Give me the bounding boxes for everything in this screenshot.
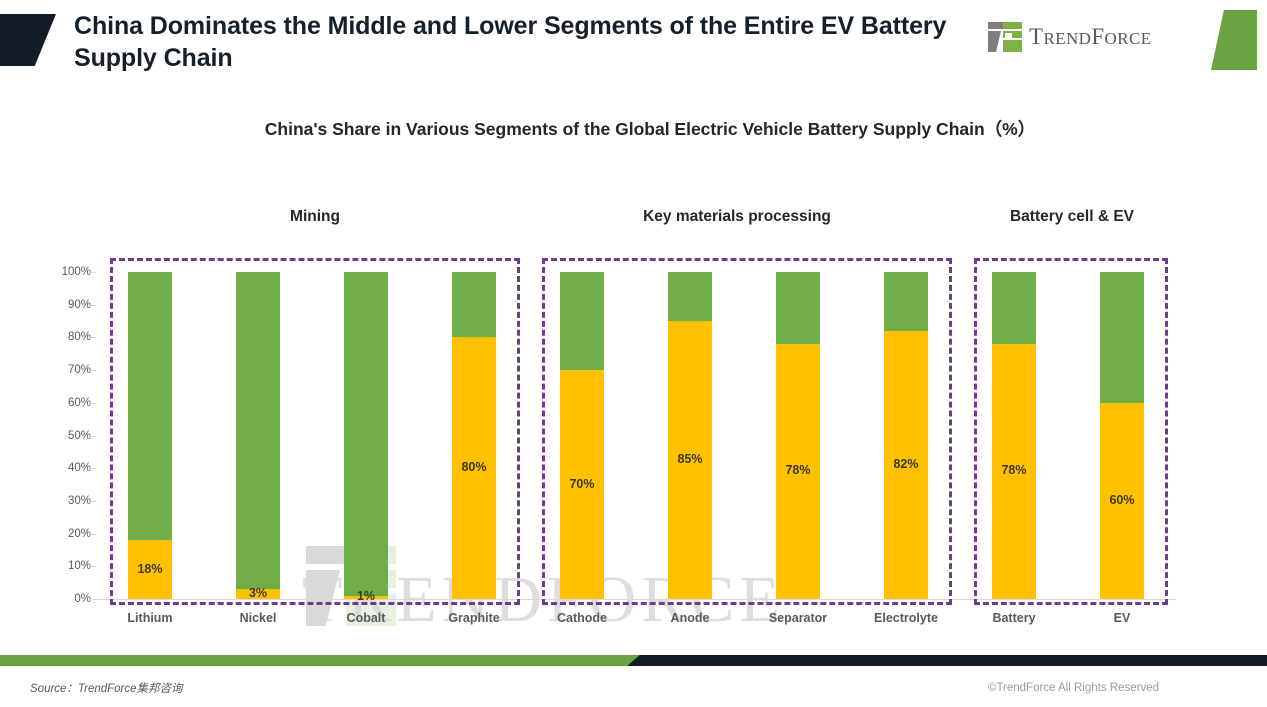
logo-letters-rend: REND [1043,29,1091,48]
y-axis-label-60: 60% [31,397,91,409]
x-axis-label-lithium: Lithium [96,611,204,625]
y-axis-label-100: 100% [31,266,91,278]
y-axis-tick-80 [90,337,96,338]
y-axis-label-40: 40% [31,462,91,474]
x-axis-label-nickel: Nickel [204,611,312,625]
group-header-battery-cell-ev: Battery cell & EV [960,208,1184,226]
x-axis-label-cobalt: Cobalt [312,611,420,625]
y-axis-tick-50 [90,436,96,437]
group-header-key-materials-processing: Key materials processing [610,208,864,226]
corner-accent-navy [0,14,56,66]
y-axis-tick-10 [90,566,96,567]
footer-accent-dark [627,655,1267,666]
y-axis-tick-60 [90,403,96,404]
group-box-mining [110,258,520,605]
logo-letter-t: T [1029,24,1043,49]
y-axis-tick-100 [90,272,96,273]
y-axis-tick-40 [90,468,96,469]
x-axis-label-battery: Battery [960,611,1068,625]
x-axis-label-anode: Anode [636,611,744,625]
logo-letter-f: F [1091,24,1104,49]
x-axis-label-ev: EV [1068,611,1176,625]
trendforce-logo-mark [988,22,1022,52]
y-axis-label-90: 90% [31,299,91,311]
group-box-battery-cell-ev [974,258,1168,605]
group-box-key-materials-processing [542,258,952,605]
trendforce-logo: TRENDFORCE [988,22,1152,52]
y-axis-label-0: 0% [31,593,91,605]
page-title: China Dominates the Middle and Lower Seg… [74,10,954,74]
y-axis-label-20: 20% [31,528,91,540]
y-axis-label-70: 70% [31,364,91,376]
trendforce-logo-text: TRENDFORCE [1029,24,1152,50]
x-axis-label-electrolyte: Electrolyte [852,611,960,625]
x-axis-label-separator: Separator [744,611,852,625]
y-axis-label-50: 50% [31,430,91,442]
y-axis-tick-90 [90,305,96,306]
y-axis-tick-30 [90,501,96,502]
x-axis-label-cathode: Cathode [528,611,636,625]
logo-letters-orce: ORCE [1105,29,1152,48]
y-axis-tick-70 [90,370,96,371]
source-note: Source：TrendForce集邦咨询 [30,680,183,696]
footer-accent-green [0,655,640,666]
x-axis-label-graphite: Graphite [420,611,528,625]
y-axis-label-80: 80% [31,331,91,343]
corner-accent-green [1211,10,1257,70]
copyright-note: ©TrendForce All Rights Reserved [988,682,1159,694]
y-axis-tick-20 [90,534,96,535]
y-axis-label-30: 30% [31,495,91,507]
y-axis-label-10: 10% [31,560,91,572]
chart-title: China's Share in Various Segments of the… [200,116,1100,142]
group-header-mining: Mining [210,208,420,226]
